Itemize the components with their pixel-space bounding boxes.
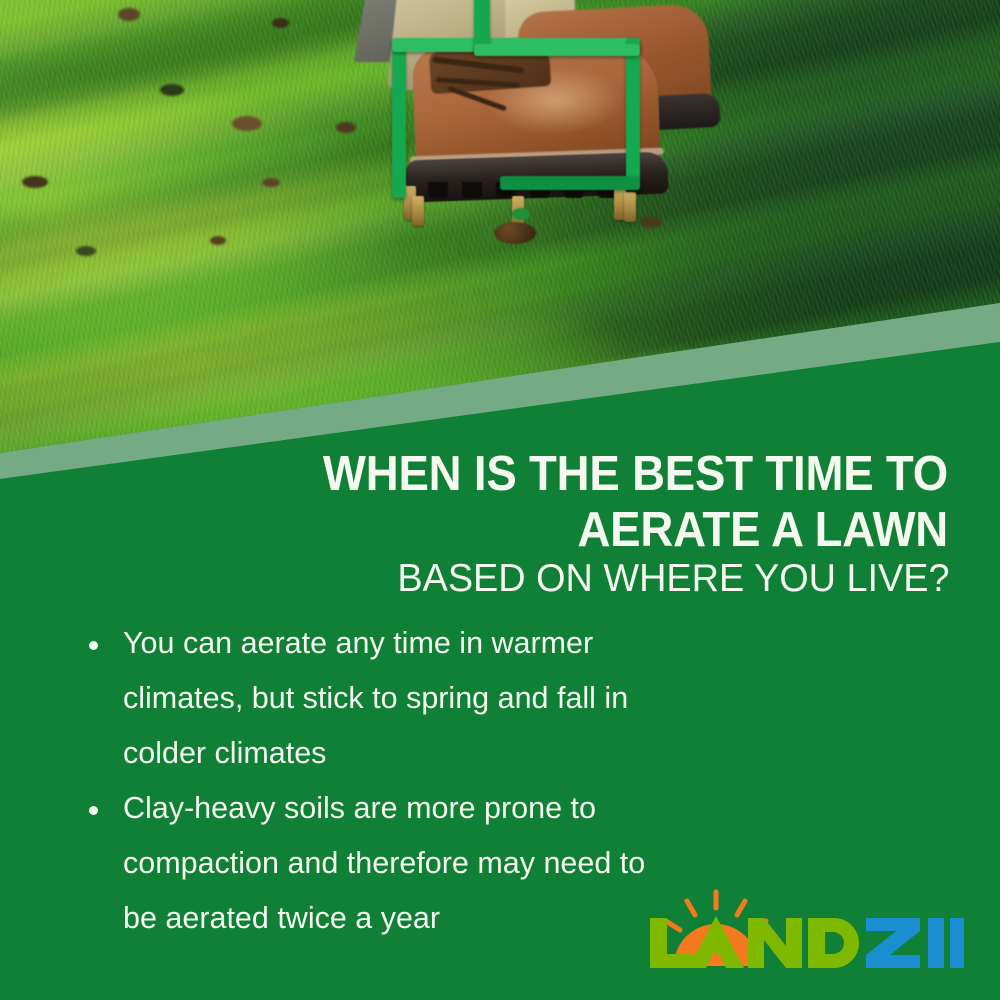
page-subtitle: BASED ON WHERE YOU LIVE? xyxy=(30,556,1000,602)
key-points-list: You can aerate any time in warmer climat… xyxy=(66,616,686,946)
title-line-2: AERATE A LAWN xyxy=(66,502,948,558)
logo-text-zie xyxy=(866,918,964,968)
logo-text-land xyxy=(650,916,859,968)
infographic-card: WHEN IS THE BEST TIME TO AERATE A LAWN B… xyxy=(0,0,1000,1000)
list-item: Clay-heavy soils are more prone to compa… xyxy=(66,781,686,946)
landzie-logo[interactable] xyxy=(644,888,964,972)
page-title: WHEN IS THE BEST TIME TO AERATE A LAWN xyxy=(0,446,1000,558)
title-line-1: WHEN IS THE BEST TIME TO xyxy=(66,446,948,502)
list-item: You can aerate any time in warmer climat… xyxy=(66,616,686,781)
